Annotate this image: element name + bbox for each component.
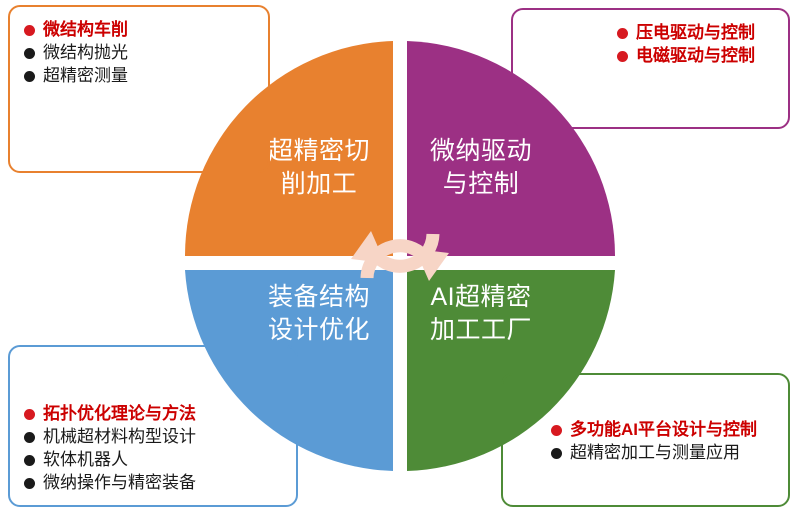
list-item: 软体机器人 [24, 449, 288, 471]
list-item: 压电驱动与控制 [617, 22, 780, 44]
bullet-dot-icon [551, 448, 562, 459]
list-item-label: 拓扑优化理论与方法 [43, 403, 196, 425]
callout-bottom-right-list: 多功能AI平台设计与控制 超精密加工与测量应用 [551, 419, 778, 465]
list-item: 多功能AI平台设计与控制 [551, 419, 778, 441]
callout-box-top-left[interactable]: 微结构车削 微结构抛光 超精密测量 [8, 5, 270, 173]
bullet-dot-icon [24, 71, 35, 82]
bullet-dot-icon [617, 51, 628, 62]
callout-bottom-left-list: 拓扑优化理论与方法 机械超材料构型设计 软体机器人 微纳操作与精密装备 [24, 403, 288, 495]
bullet-dot-icon [24, 48, 35, 59]
list-item: 微结构车削 [24, 19, 258, 41]
bullet-dot-icon [24, 432, 35, 443]
bullet-dot-icon [24, 25, 35, 36]
list-item: 电磁驱动与控制 [617, 45, 780, 67]
bullet-dot-icon [551, 425, 562, 436]
callout-box-bottom-right[interactable]: 多功能AI平台设计与控制 超精密加工与测量应用 [501, 373, 790, 507]
list-item-label: 微纳操作与精密装备 [43, 472, 196, 494]
list-item: 机械超材料构型设计 [24, 426, 288, 448]
bullet-dot-icon [617, 28, 628, 39]
list-item: 超精密测量 [24, 65, 258, 87]
list-item-label: 多功能AI平台设计与控制 [570, 419, 757, 441]
list-item-label: 电磁驱动与控制 [636, 45, 755, 67]
list-item-label: 压电驱动与控制 [636, 22, 755, 44]
list-item-label: 超精密加工与测量应用 [570, 442, 740, 464]
bullet-dot-icon [24, 478, 35, 489]
callout-top-left-list: 微结构车削 微结构抛光 超精密测量 [24, 19, 258, 88]
list-item: 拓扑优化理论与方法 [24, 403, 288, 425]
list-item: 超精密加工与测量应用 [551, 442, 778, 464]
list-item-label: 机械超材料构型设计 [43, 426, 196, 448]
callout-top-right-list: 压电驱动与控制 电磁驱动与控制 [617, 22, 780, 68]
list-item-label: 软体机器人 [43, 449, 128, 471]
bullet-dot-icon [24, 455, 35, 466]
list-item-label: 微结构抛光 [43, 42, 128, 64]
bullet-dot-icon [24, 409, 35, 420]
list-item: 微纳操作与精密装备 [24, 472, 288, 494]
callout-box-top-right[interactable]: 压电驱动与控制 电磁驱动与控制 [511, 8, 790, 129]
list-item: 微结构抛光 [24, 42, 258, 64]
diagram-canvas: 超精密切 削加工 微纳驱动 与控制 装备结构 设计优化 AI超精密 加工工厂 微… [0, 0, 798, 512]
list-item-label: 微结构车削 [43, 19, 128, 41]
list-item-label: 超精密测量 [43, 65, 128, 87]
callout-box-bottom-left[interactable]: 拓扑优化理论与方法 机械超材料构型设计 软体机器人 微纳操作与精密装备 [8, 345, 298, 507]
